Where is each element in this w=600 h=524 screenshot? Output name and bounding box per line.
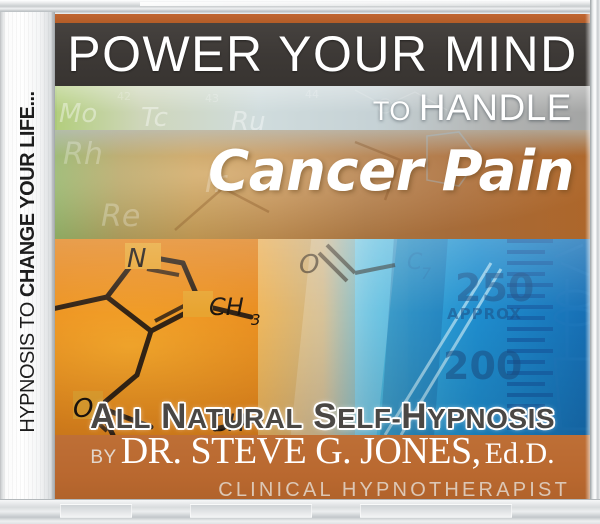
svg-text:43: 43	[205, 92, 219, 105]
main-title: POWER YOUR MIND	[55, 26, 590, 82]
author-degree: Ed.D.	[485, 437, 555, 470]
cd-cover-art: POWER YOUR MIND Mo Tc Ru 42 43 44	[55, 14, 590, 510]
jewel-case-right-edge	[590, 0, 600, 524]
case-notch-1	[60, 504, 132, 518]
byline-prefix: BY	[90, 447, 116, 468]
svg-text:Tc: Tc	[141, 103, 168, 130]
svg-text:Re: Re	[101, 199, 140, 234]
cover-top-orange-strip	[55, 14, 590, 23]
svg-text:Rh: Rh	[63, 137, 103, 172]
cd-spine: HYPNOSIS TO CHANGE YOUR LIFE...	[0, 12, 55, 512]
svg-text:Mo: Mo	[59, 99, 97, 129]
author-name: DR. STEVE G. JONES,	[121, 430, 481, 472]
subtitle-handle: HANDLE	[419, 87, 572, 128]
svg-text:Ru: Ru	[231, 107, 266, 130]
spine-text-heavy: CHANGE YOUR LIFE...	[17, 91, 39, 297]
jewel-case-bottom-edge	[0, 499, 600, 524]
jewel-case-top-edge	[0, 0, 600, 15]
subject-title: Cancer Pain	[208, 140, 574, 204]
svg-text:42: 42	[117, 90, 131, 103]
svg-text:44: 44	[305, 88, 319, 101]
subtitle-to: TO	[373, 96, 419, 126]
subtitle-to-handle: TO HANDLE	[373, 88, 572, 136]
spine-text: HYPNOSIS TO CHANGE YOUR LIFE...	[18, 91, 38, 432]
spine-text-light: HYPNOSIS TO	[17, 297, 39, 433]
cd-jewel-case-package: HYPNOSIS TO CHANGE YOUR LIFE... POWER YO…	[0, 0, 600, 524]
case-notch-3	[360, 504, 512, 518]
author-byline: BY DR. STEVE G. JONES, Ed.D.	[55, 430, 590, 480]
case-notch-2	[190, 504, 312, 518]
